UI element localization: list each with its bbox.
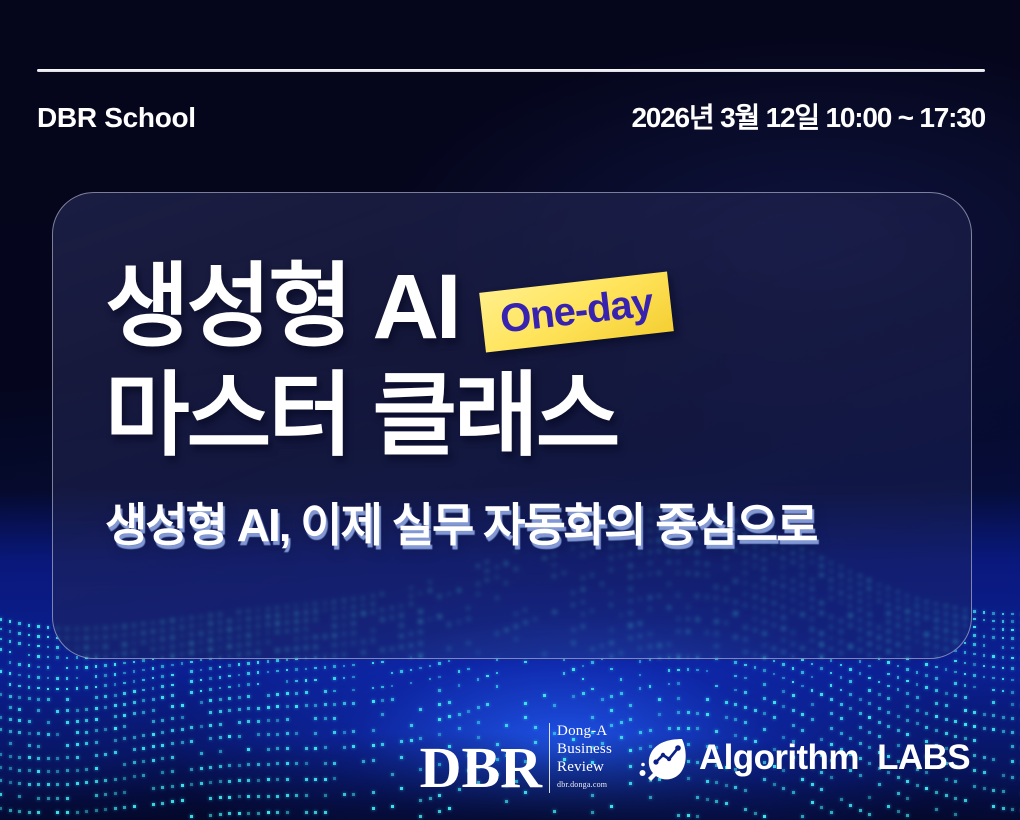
one-day-badge: One-day [480,271,675,352]
dbr-tagline-line3: Review [557,759,612,777]
hero-title-line1: 생성형 AI [105,258,458,357]
schedule-label: 2026년 3월 12일 10:00 ~ 17:30 [631,96,985,136]
algorithm-labs-wordmark: Algorithm LABS [699,738,970,778]
algorithm-labs-name-sub: LABS [877,738,970,777]
algorithm-labs-logo: Algorithm LABS [638,733,970,783]
dbr-tagline: Dong-A Business Review dbr.donga.com [549,723,612,792]
algorithm-labs-name-main: Algorithm [699,738,859,777]
dbr-wordmark: DBR [420,744,542,793]
dbr-tagline-line2: Business [557,741,612,759]
one-day-badge-label: One-day [499,282,656,339]
footer-logos: DBR Dong-A Business Review dbr.donga.com [0,726,1020,790]
dbr-logo: DBR Dong-A Business Review dbr.donga.com [420,723,612,792]
poster-canvas: DBR School 2026년 3월 12일 10:00 ~ 17:30 생성… [0,0,1020,820]
header-divider [37,69,985,72]
hero-subtitle: 생성형 AI, 이제 실무 자동화의 중심으로 [105,489,816,555]
header-row: DBR School 2026년 3월 12일 10:00 ~ 17:30 [37,96,985,136]
brand-label: DBR School [37,102,196,134]
dbr-url: dbr.donga.com [557,779,612,791]
hero-title-line2: 마스터 클래스 [105,367,816,466]
hero-text-block: 생성형 AI One-day 마스터 클래스 생성형 AI, 이제 실무 자동화… [105,258,816,555]
dbr-tagline-line1: Dong-A [557,723,612,741]
leaf-chart-icon [638,733,688,783]
hero-title-row: 생성형 AI One-day [105,258,816,357]
